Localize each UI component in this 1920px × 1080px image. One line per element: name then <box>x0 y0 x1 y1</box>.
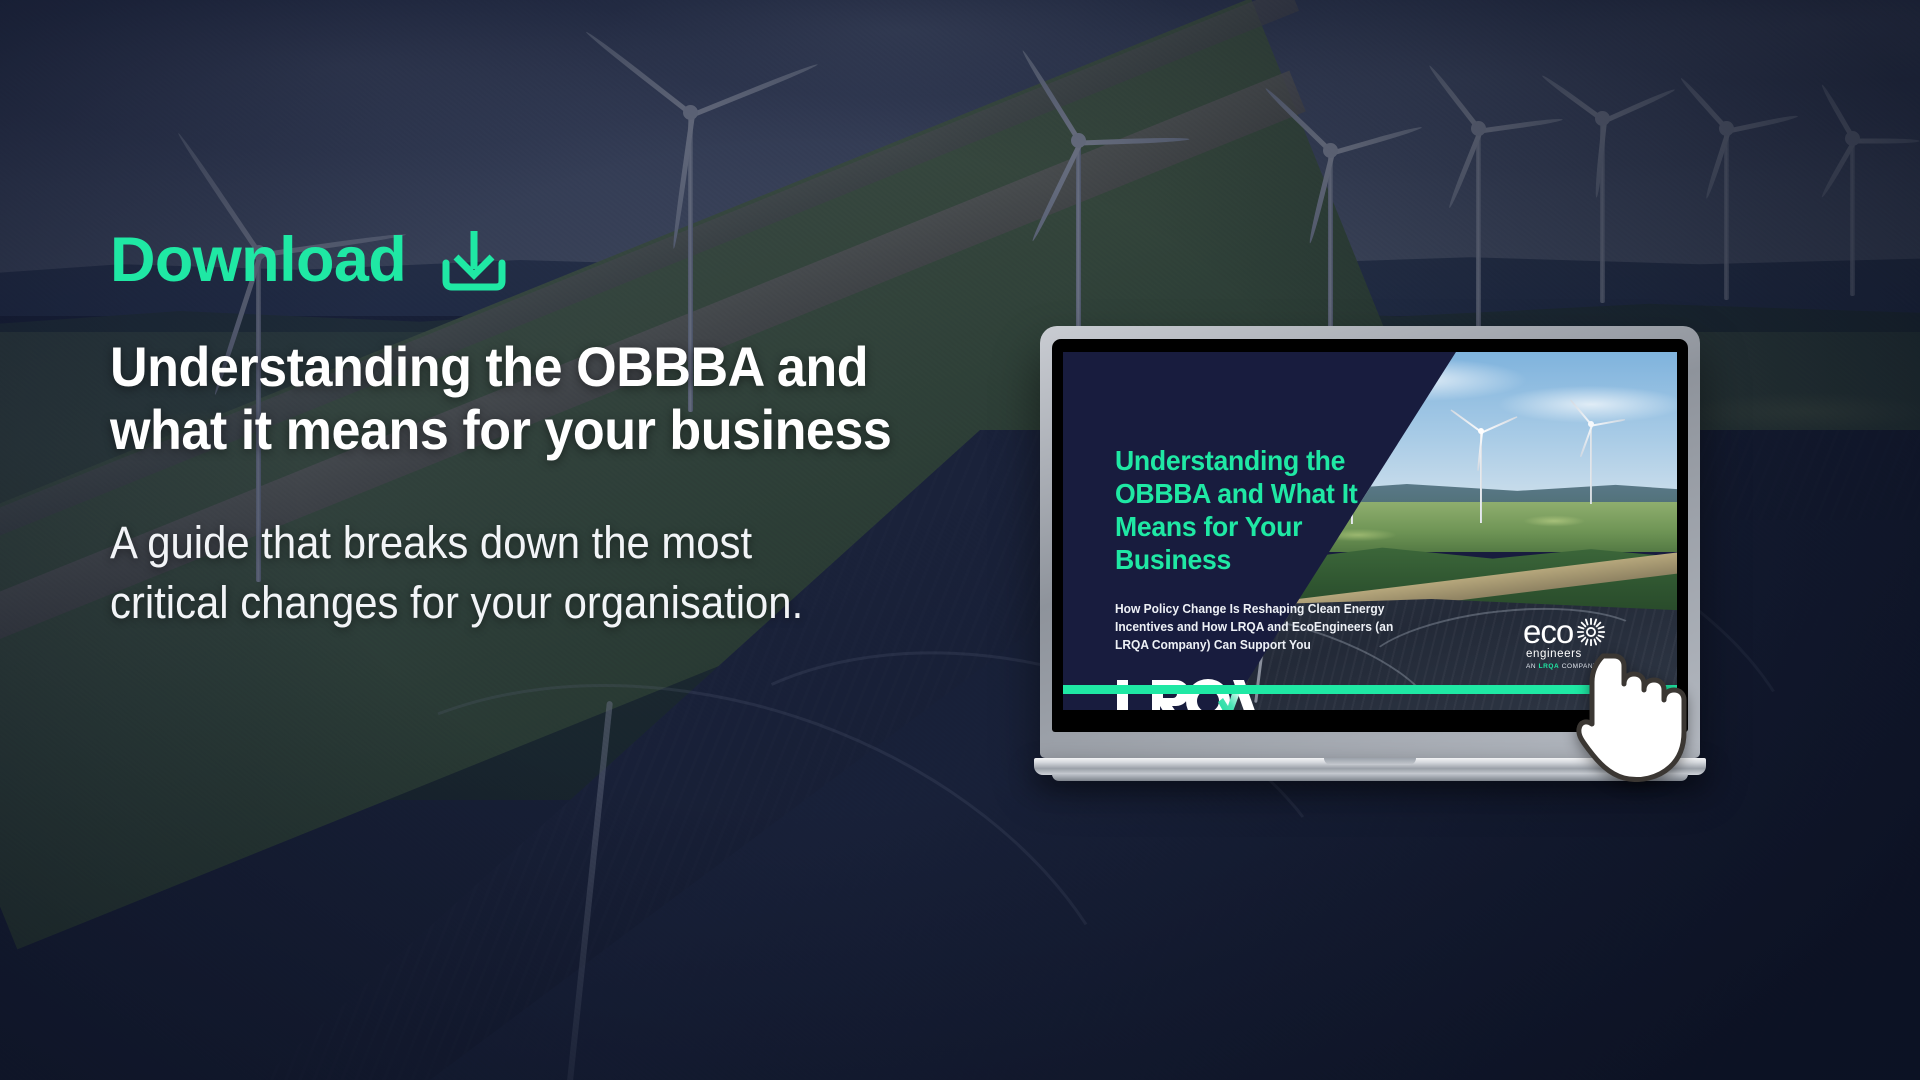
banner-description: A guide that breaks down the most critic… <box>110 513 835 632</box>
eco-tagline-prefix: AN <box>1526 663 1536 670</box>
cover-title: Understanding the OBBBA and What It Mean… <box>1115 444 1400 576</box>
pointing-hand-cursor[interactable] <box>1576 650 1694 782</box>
banner-copy-block: Download Understanding the OBBBA and wha… <box>110 228 1060 632</box>
eco-tagline-brand: LRQA <box>1539 663 1560 670</box>
download-banner: Download Understanding the OBBBA and wha… <box>0 0 1920 1080</box>
eco-wordmark: eco <box>1523 618 1573 645</box>
eco-logo-top: eco <box>1523 617 1651 647</box>
download-icon[interactable] <box>436 228 512 292</box>
lrqa-logo <box>1115 678 1267 710</box>
sunburst-icon <box>1576 617 1606 647</box>
laptop-mockup: Understanding the OBBBA and What It Mean… <box>1040 326 1712 775</box>
download-label: Download <box>110 229 406 292</box>
download-eyebrow-row: Download <box>110 228 1060 292</box>
cover-subtitle: How Policy Change Is Reshaping Clean Ene… <box>1115 600 1393 654</box>
page-title: Understanding the OBBBA and what it mean… <box>110 336 966 461</box>
